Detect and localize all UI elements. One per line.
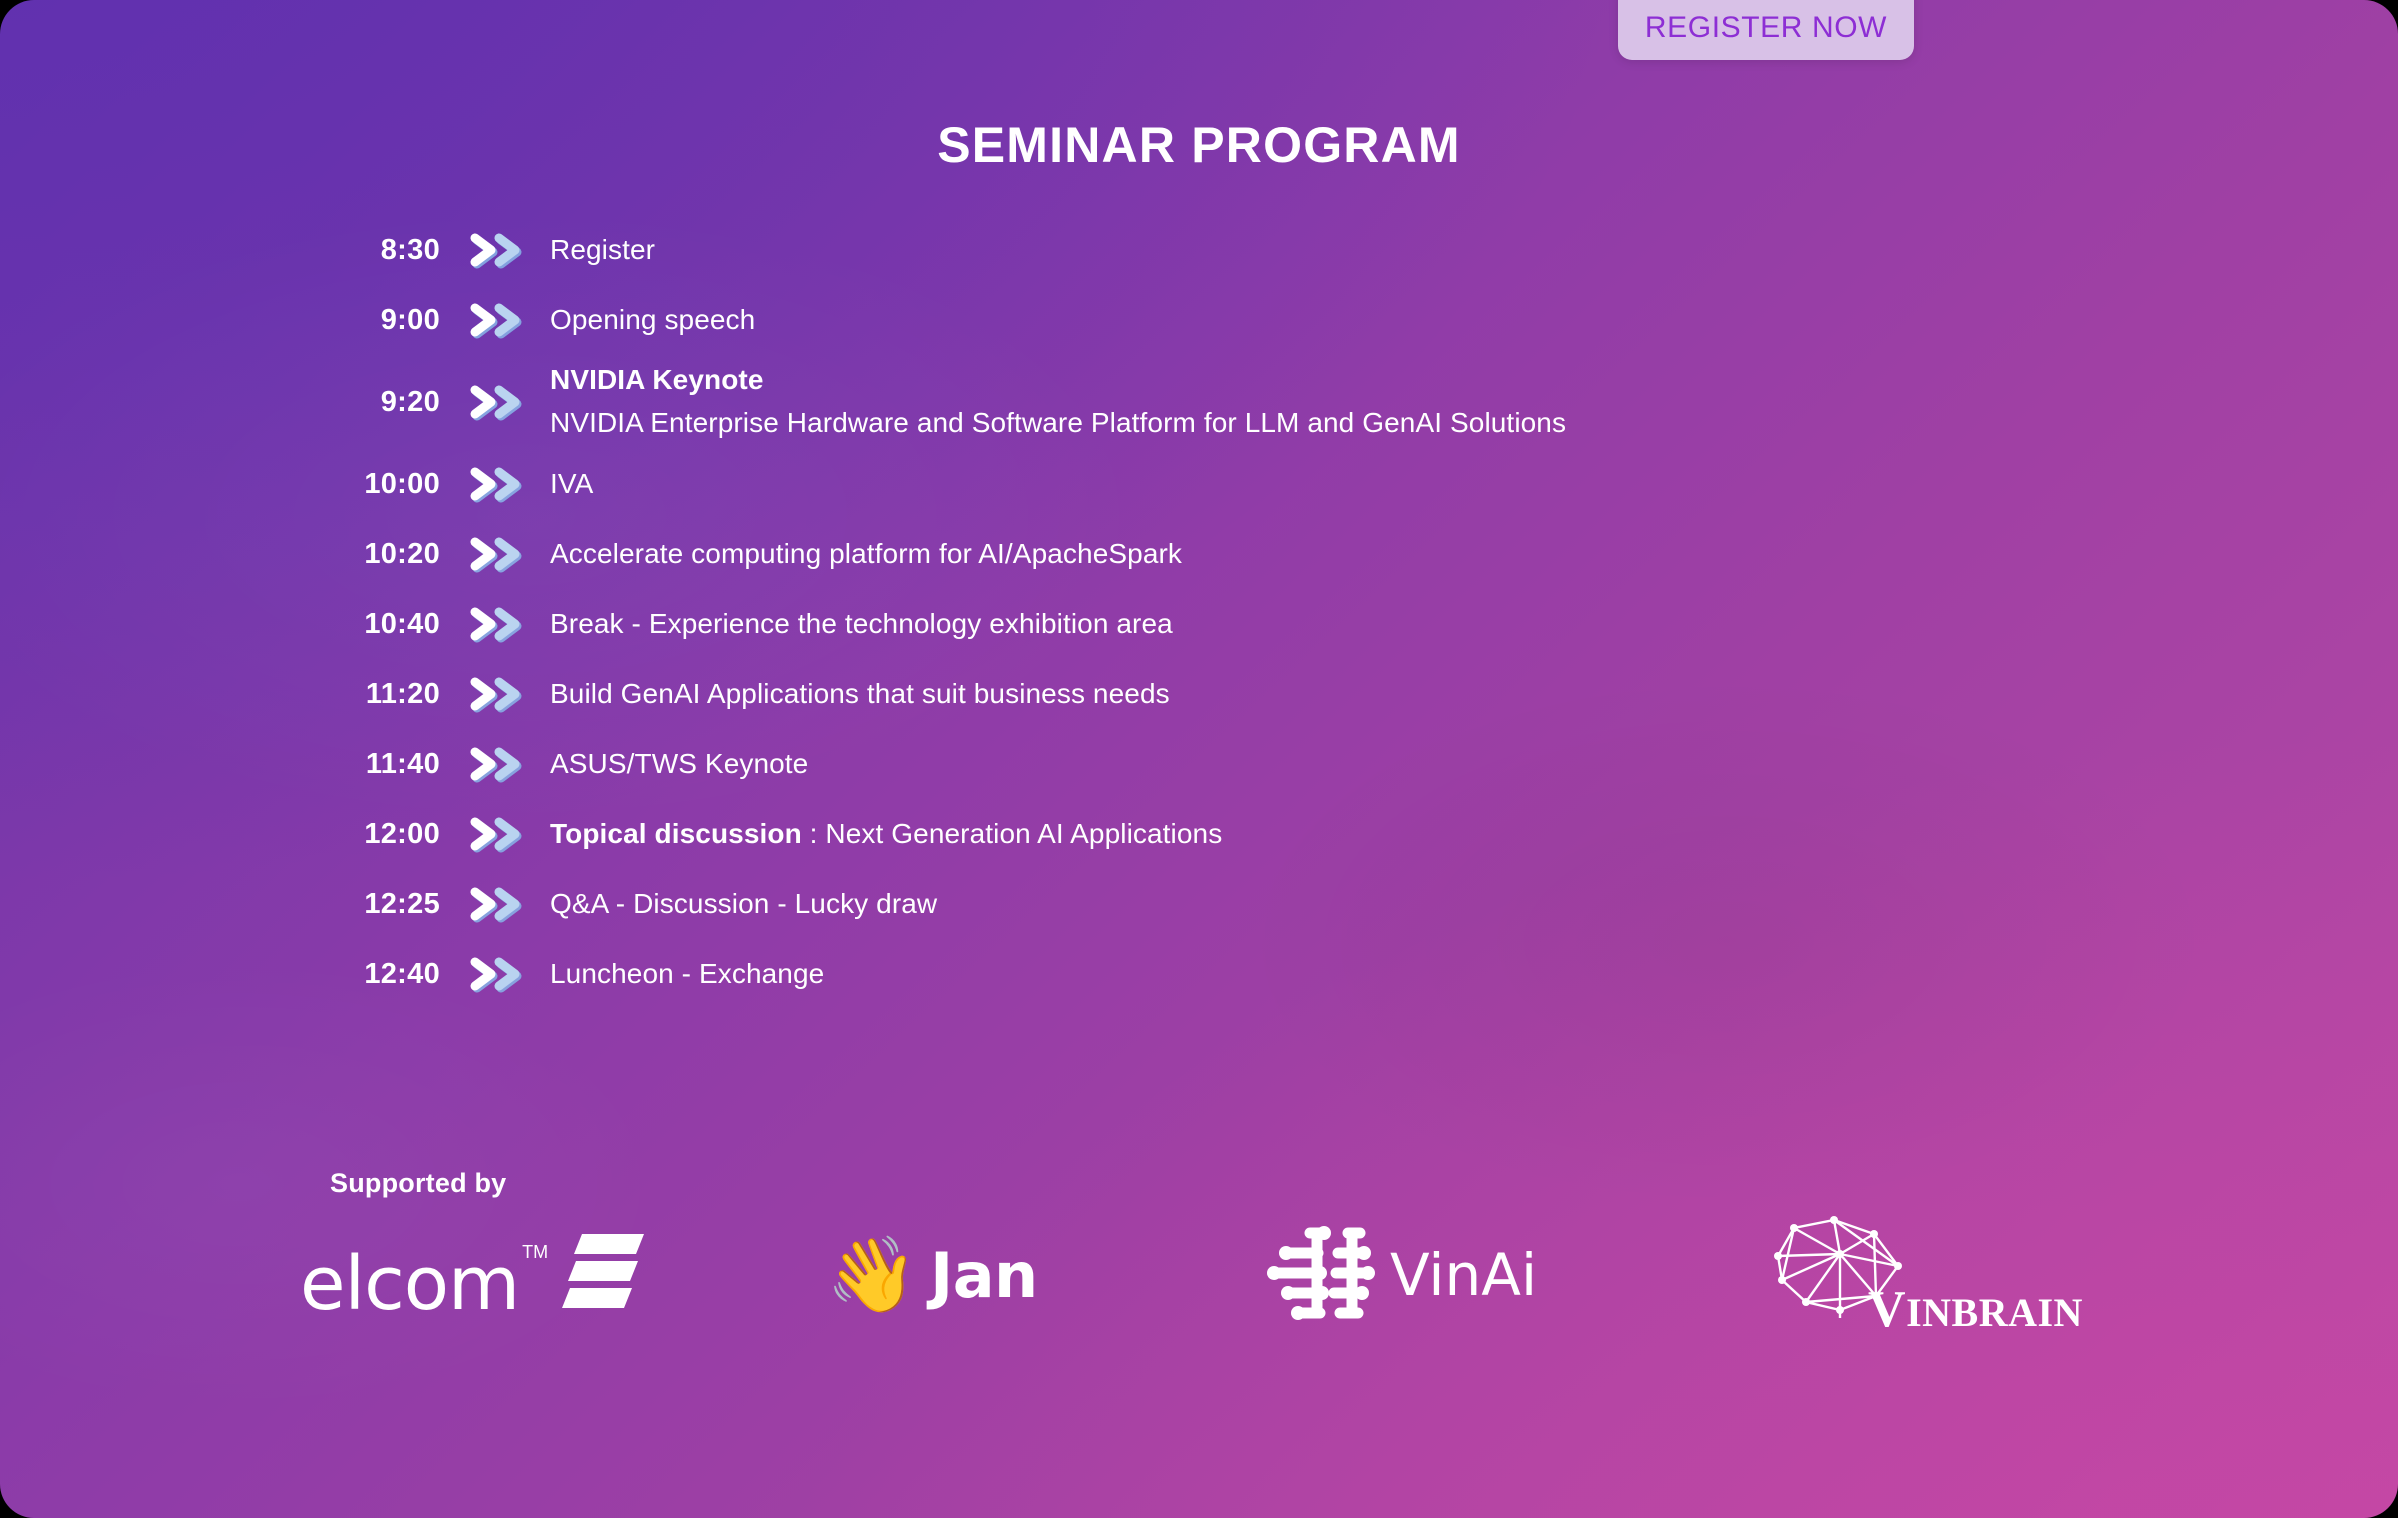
double-chevron-icon — [464, 464, 532, 504]
agenda-list: 8:30 Register 9:00 — [300, 215, 2100, 1009]
waving-hand-icon: 👋 — [826, 1238, 918, 1312]
elcom-e-mark-icon — [562, 1232, 644, 1315]
elcom-wordmark: elcom — [300, 1250, 519, 1318]
seminar-program-slide: REGISTER NOW SEMINAR PROGRAM 8:30 Regist… — [0, 0, 2398, 1518]
agenda-row: 12:40 Luncheon - Exchange — [300, 939, 2100, 1009]
agenda-row-text: Build GenAI Applications that suit busin… — [550, 676, 2100, 713]
agenda-row: 12:25 Q&A - Discussion - Lucky draw — [300, 869, 2100, 939]
sponsor-logo-vinbrain: VINBRAIN — [1734, 1210, 2168, 1340]
agenda-row-title: : Next Generation AI Applications — [802, 818, 1223, 849]
agenda-row-time: 10:20 — [300, 538, 440, 571]
agenda-row: 9:00 Opening speech — [300, 285, 2100, 355]
agenda-row: 8:30 Register — [300, 215, 2100, 285]
agenda-row-title: ASUS/TWS Keynote — [550, 748, 808, 779]
agenda-row: 10:40 Break - Experience the technology … — [300, 589, 2100, 659]
vinbrain-rest: INBRAIN — [1906, 1290, 2083, 1335]
double-chevron-icon — [464, 534, 532, 574]
agenda-row-lead: NVIDIA Keynote — [550, 364, 764, 395]
agenda-row-lead: Topical discussion — [550, 818, 802, 849]
double-chevron-icon — [464, 604, 532, 644]
vinbrain-wordmark: VINBRAIN — [1868, 1280, 2083, 1339]
supported-by-label: Supported by — [330, 1168, 506, 1199]
double-chevron-icon — [464, 230, 532, 270]
vinai-wordmark: VinAi — [1390, 1241, 1537, 1309]
agenda-row-time: 9:00 — [300, 304, 440, 337]
page-title: SEMINAR PROGRAM — [0, 116, 2398, 174]
agenda-row: 11:20 Build GenAI Applications that suit… — [300, 659, 2100, 729]
agenda-row-title: Accelerate computing platform for AI/Apa… — [550, 538, 1182, 569]
agenda-row: 10:20 Accelerate computing platform for … — [300, 519, 2100, 589]
agenda-row: 11:40 ASUS/TWS Keynote — [300, 729, 2100, 799]
agenda-row: 9:20 NVIDIA Keynote NVIDIA Enterprise Ha… — [300, 355, 2100, 449]
jan-wordmark: Jan — [930, 1239, 1038, 1312]
agenda-row-time: 12:40 — [300, 958, 440, 991]
sponsor-logo-jan: 👋 Jan — [800, 1238, 1256, 1312]
agenda-row-title: Opening speech — [550, 304, 755, 335]
agenda-row-text: Opening speech — [550, 302, 2100, 339]
double-chevron-icon — [464, 814, 532, 854]
agenda-row-time: 8:30 — [300, 234, 440, 267]
agenda-row-time: 10:00 — [300, 468, 440, 501]
agenda-row-time: 11:40 — [300, 748, 440, 781]
agenda-row-text: Register — [550, 232, 2100, 269]
double-chevron-icon — [464, 744, 532, 784]
agenda-row-title: Break - Experience the technology exhibi… — [550, 608, 1173, 639]
agenda-row: 12:00 Topical discussion : Next Generati… — [300, 799, 2100, 869]
agenda-row-text: Luncheon - Exchange — [550, 956, 2100, 993]
double-chevron-icon — [464, 954, 532, 994]
agenda-row: 10:00 IVA — [300, 449, 2100, 519]
agenda-row-time: 9:20 — [300, 386, 440, 419]
agenda-row-time: 11:20 — [300, 678, 440, 711]
agenda-row-time: 10:40 — [300, 608, 440, 641]
register-now-button[interactable]: REGISTER NOW — [1618, 0, 1914, 60]
agenda-row-text: IVA — [550, 466, 2100, 503]
agenda-row-time: 12:00 — [300, 818, 440, 851]
agenda-row-title: Luncheon - Exchange — [550, 958, 824, 989]
double-chevron-icon — [464, 674, 532, 714]
agenda-row-text: NVIDIA Keynote NVIDIA Enterprise Hardwar… — [550, 362, 2100, 442]
sponsor-logo-elcom: elcom TM — [300, 1232, 800, 1319]
agenda-row-subtitle: NVIDIA Enterprise Hardware and Software … — [550, 405, 2100, 442]
agenda-row-title: IVA — [550, 468, 593, 499]
agenda-row-text: Break - Experience the technology exhibi… — [550, 606, 2100, 643]
double-chevron-icon — [464, 300, 532, 340]
vinai-node-glyph-icon — [1264, 1221, 1376, 1330]
agenda-row-title: Q&A - Discussion - Lucky draw — [550, 888, 937, 919]
vinbrain-initial: V — [1868, 1281, 1906, 1338]
agenda-row-text: Accelerate computing platform for AI/Apa… — [550, 536, 2100, 573]
sponsor-logo-vinai: VinAi — [1256, 1221, 1734, 1330]
agenda-row-text: ASUS/TWS Keynote — [550, 746, 2100, 783]
double-chevron-icon — [464, 382, 532, 422]
agenda-row-text: Q&A - Discussion - Lucky draw — [550, 886, 2100, 923]
agenda-row-title: Register — [550, 234, 655, 265]
agenda-row-time: 12:25 — [300, 888, 440, 921]
sponsor-logo-strip: elcom TM 👋 Jan — [300, 1210, 2150, 1340]
agenda-row-title: Build GenAI Applications that suit busin… — [550, 678, 1170, 709]
double-chevron-icon — [464, 884, 532, 924]
agenda-row-text: Topical discussion : Next Generation AI … — [550, 816, 2100, 853]
trademark-symbol: TM — [522, 1242, 548, 1263]
